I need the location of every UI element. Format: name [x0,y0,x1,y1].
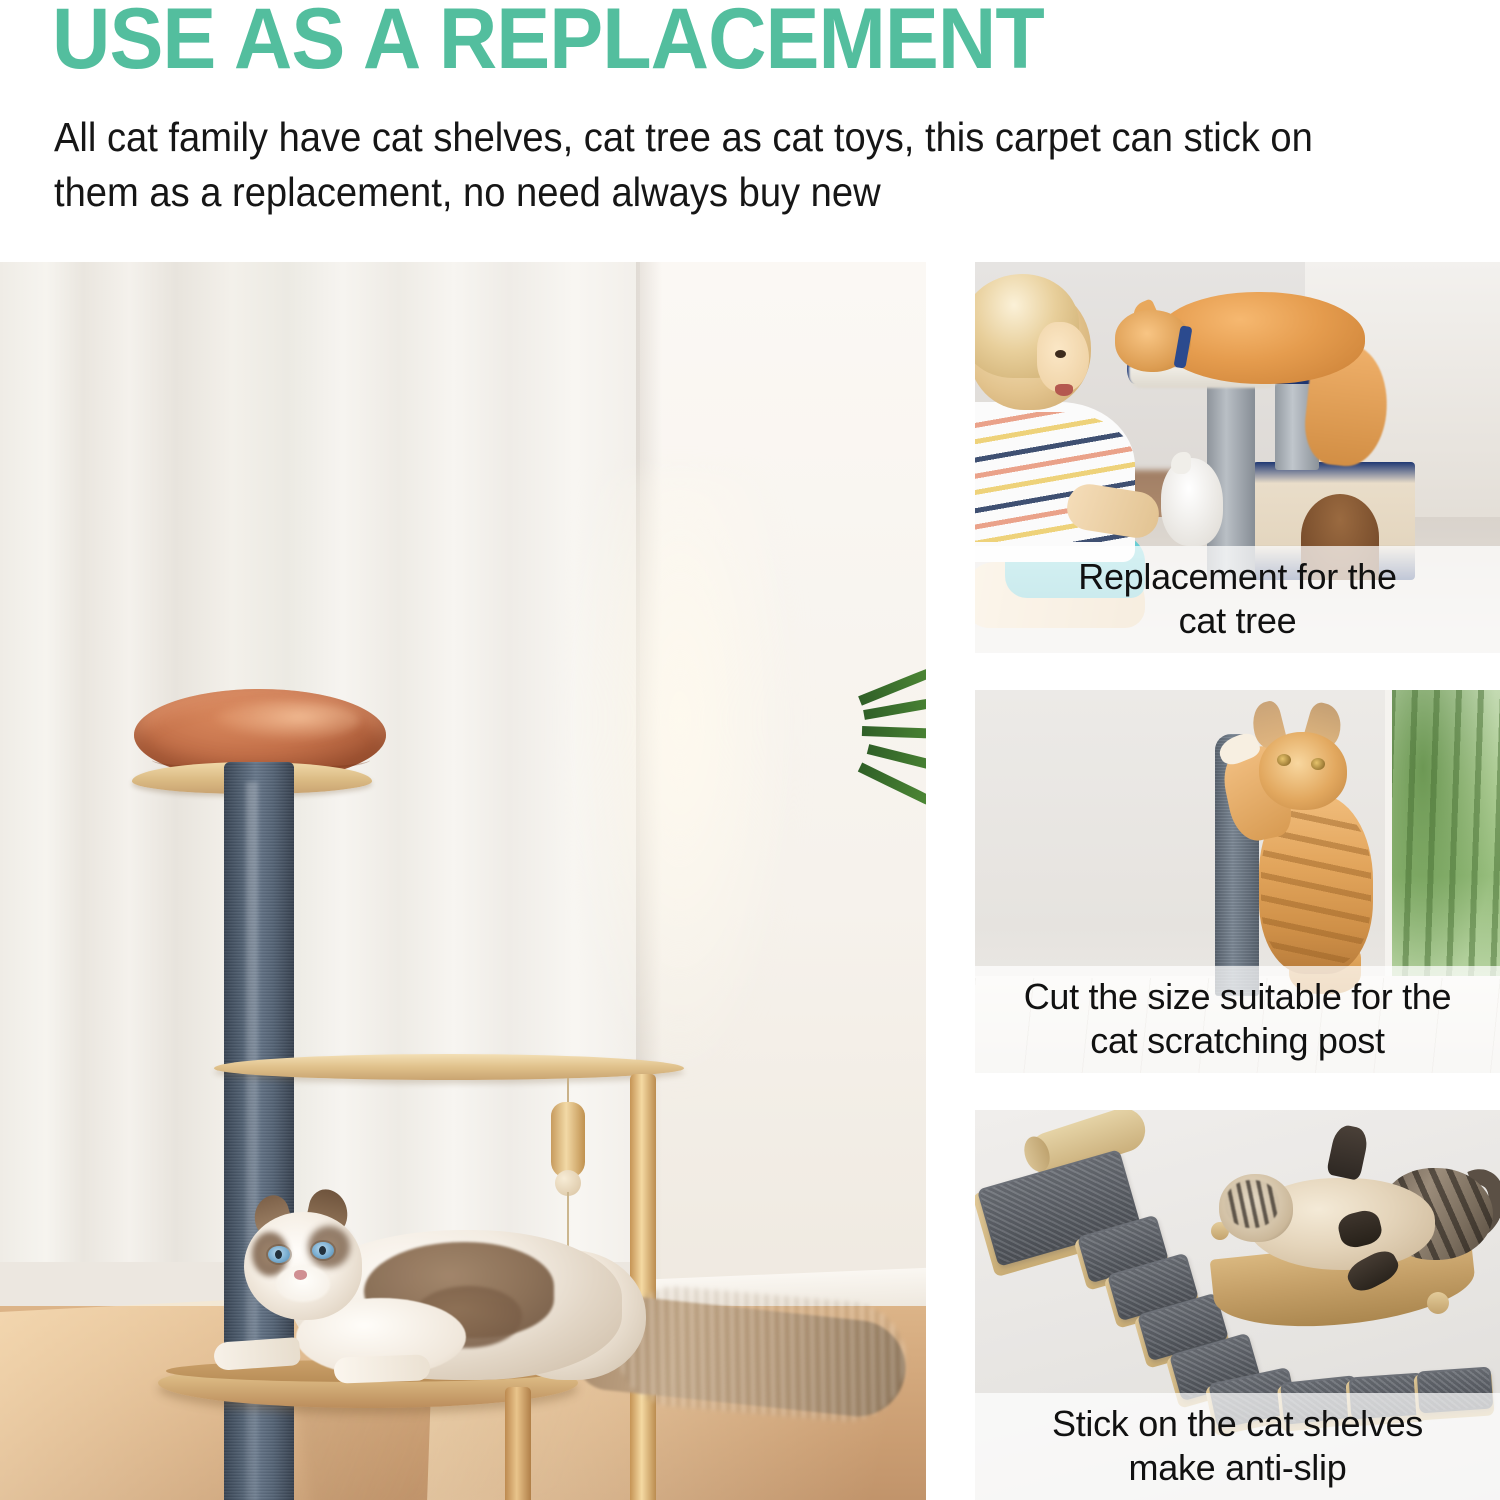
tabby-eye-right [1311,758,1325,770]
panel3-caption-line1: Stick on the cat shelves [981,1402,1494,1446]
panel2-caption-line2: cat scratching post [981,1019,1494,1063]
palm-plant-icon [860,692,926,812]
wall-sunlight-glow [560,472,800,1092]
tabby-eye-left [1277,754,1291,766]
panel1-caption-line1: Replacement for the [981,555,1494,599]
tree-leg-left [505,1387,531,1500]
main-product-photo [0,262,926,1500]
panel2-caption: Cut the size suitable for the cat scratc… [975,966,1500,1073]
panel3-caption: Stick on the cat shelves make anti-slip [975,1393,1500,1500]
infographic-page: USE AS A REPLACEMENT All cat family have… [0,0,1500,1500]
panel1-caption: Replacement for the cat tree [975,546,1500,653]
tabby-head [1259,732,1347,810]
child-eye [1055,350,1066,358]
child-mouth [1055,384,1073,396]
orange-cat [1111,282,1391,427]
panel-scratching-post: Cut the size suitable for the cat scratc… [975,690,1500,1073]
panel3-caption-line2: make anti-slip [981,1446,1494,1490]
panel-cat-tree: Replacement for the cat tree [975,262,1500,653]
white-cat-ear [1171,452,1191,474]
side-panel-column: Replacement for the cat tree [975,262,1500,1500]
siamese-cat-face-mask [1225,1180,1279,1228]
cat-eye-right [312,1242,334,1259]
panel1-caption-line2: cat tree [981,599,1494,643]
header: USE AS A REPLACEMENT All cat family have… [0,0,1500,262]
cat-front-paw [213,1337,301,1371]
cat-eye-left [268,1246,290,1263]
cushion-highlight [210,700,360,742]
hanging-toy-bell [551,1102,585,1178]
page-subtitle: All cat family have cat shelves, cat tre… [54,110,1356,219]
siamese-cat-on-hammock [1213,1120,1500,1310]
white-cat-lower [1161,458,1223,546]
tabby-cat-scratching [1211,698,1431,998]
page-title: USE AS A REPLACEMENT [52,0,1044,84]
cat-rear-paw [334,1354,431,1383]
panel-cat-shelves: Stick on the cat shelves make anti-slip [975,1110,1500,1500]
ragdoll-cat [196,1190,716,1400]
siamese-paw-raised [1326,1123,1370,1181]
panel2-caption-line1: Cut the size suitable for the [981,975,1494,1019]
cat-nose [294,1270,307,1280]
middle-shelf [214,1054,684,1080]
